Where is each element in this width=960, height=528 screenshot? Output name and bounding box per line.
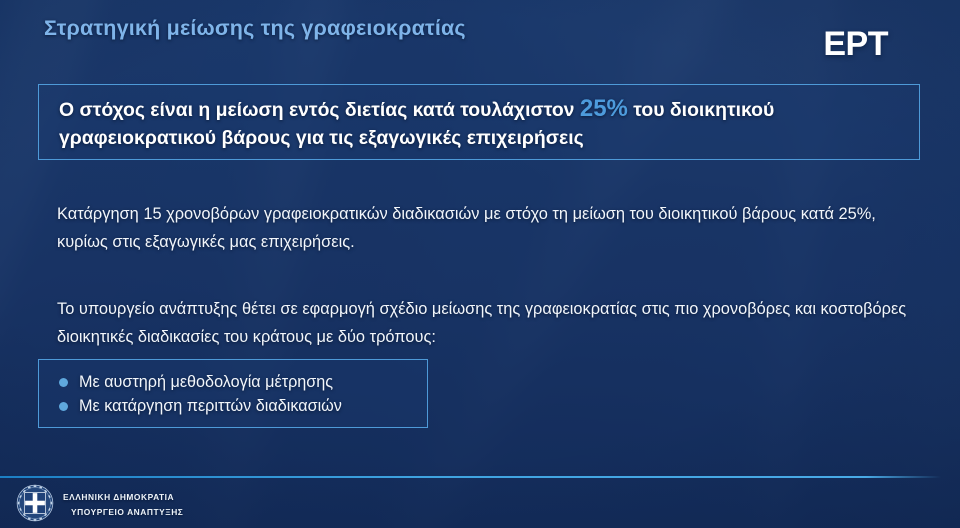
bullet-list-box: Με αυστηρή μεθοδολογία μέτρησης Με κατάρ… (38, 359, 428, 428)
headline-percentage-highlight: 25% (580, 95, 628, 122)
headline-part-before: Ο στόχος είναι η μείωση εντός διετίας κα… (59, 99, 580, 121)
slide-title: Στρατηγική μείωσης της γραφειοκρατίας (44, 16, 466, 41)
body-paragraph-1: Κατάργηση 15 χρονοβόρων γραφειοκρατικών … (57, 200, 907, 256)
body-paragraph-2: Το υπουργείο ανάπτυξης θέτει σε εφαρμογή… (57, 295, 907, 351)
footer: ΕΛΛΗΝΙΚΗ ΔΗΜΟΚΡΑΤΙΑ ΥΠΟΥΡΓΕΙΟ ΑΝΑΠΤΥΞΗΣ (16, 484, 183, 522)
slide-content: Στρατηγική μείωσης της γραφειοκρατίας ΕΡ… (0, 0, 960, 528)
bullet-dot-icon (59, 402, 68, 411)
bullet-label: Με κατάργηση περιττών διαδικασιών (79, 397, 342, 416)
list-item: Με κατάργηση περιττών διαδικασιών (59, 394, 427, 418)
footer-text-block: ΕΛΛΗΝΙΚΗ ΔΗΜΟΚΡΑΤΙΑ ΥΠΟΥΡΓΕΙΟ ΑΝΑΠΤΥΞΗΣ (63, 487, 183, 519)
list-item: Με αυστηρή μεθοδολογία μέτρησης (59, 370, 427, 394)
footer-line-ministry: ΥΠΟΥΡΓΕΙΟ ΑΝΑΠΤΥΞΗΣ (63, 507, 183, 517)
footer-divider (0, 476, 941, 478)
ert-logo: ΕΡΤ (823, 25, 888, 64)
presentation-slide: Στρατηγική μείωσης της γραφειοκρατίας ΕΡ… (0, 0, 960, 528)
headline-box: Ο στόχος είναι η μείωση εντός διετίας κα… (38, 84, 920, 160)
footer-line-republic: ΕΛΛΗΝΙΚΗ ΔΗΜΟΚΡΑΤΙΑ (63, 492, 174, 502)
bullet-label: Με αυστηρή μεθοδολογία μέτρησης (79, 373, 333, 392)
headline-text: Ο στόχος είναι η μείωση εντός διετίας κα… (59, 95, 903, 152)
greek-republic-emblem-icon (16, 484, 54, 522)
bullet-dot-icon (59, 378, 68, 387)
